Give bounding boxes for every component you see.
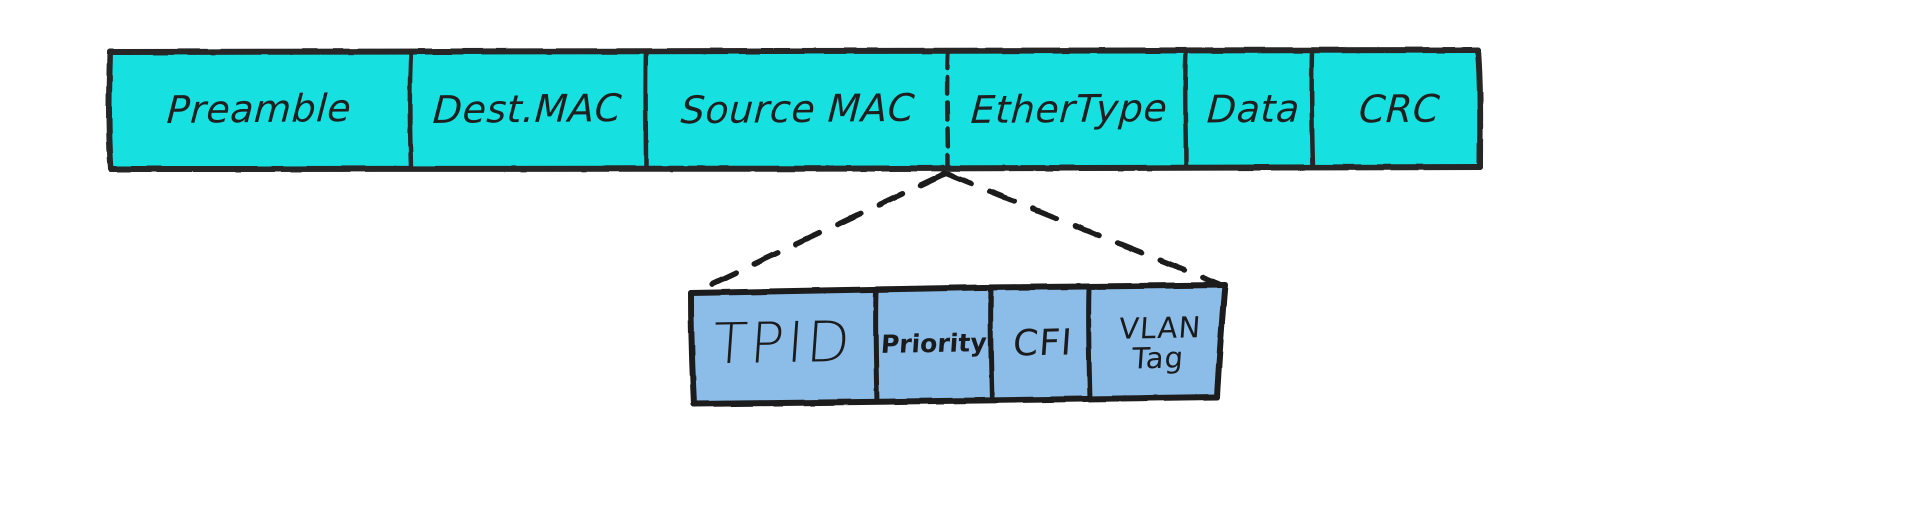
callout-left-line	[693, 174, 944, 293]
diagram-root: Preamble Dest.MAC Source MAC EtherType D…	[0, 0, 1920, 523]
vlan-cell-vlan-tag[interactable]: VLAN Tag	[1093, 283, 1226, 405]
vlan-cell-cfi[interactable]: CFI	[993, 283, 1093, 405]
frame-cell-label: Dest.MAC	[432, 86, 623, 132]
vlan-cell-priority[interactable]: Priority	[875, 283, 993, 405]
frame-cell-label: Preamble	[165, 86, 352, 132]
frame-cell-crc[interactable]: CRC	[1318, 50, 1480, 168]
vlan-cell-label: TPID	[711, 314, 855, 374]
callout-dashed-lines	[693, 174, 1219, 293]
vlan-tag-row: TPID Priority CFI VLAN Tag	[690, 283, 1226, 405]
callout-right-line	[947, 174, 1219, 284]
frame-cell-label: Data	[1205, 87, 1300, 132]
vlan-cell-label: Priority	[880, 330, 987, 357]
ethernet-frame-row: Preamble Dest.MAC Source MAC EtherType D…	[108, 50, 1480, 168]
frame-cell-label: CRC	[1357, 87, 1441, 132]
vlan-cell-label: VLAN Tag	[1116, 314, 1202, 375]
frame-cell-preamble[interactable]: Preamble	[108, 50, 410, 168]
frame-cell-data[interactable]: Data	[1188, 50, 1318, 168]
frame-cell-label: EtherType	[969, 86, 1168, 132]
vlan-cell-label: CFI	[1012, 325, 1074, 363]
vlan-cell-tpid[interactable]: TPID	[690, 283, 875, 405]
frame-cell-source-mac[interactable]: Source MAC	[645, 50, 950, 168]
frame-cell-ethertype[interactable]: EtherType	[950, 50, 1188, 168]
frame-cell-label: Source MAC	[679, 86, 916, 132]
frame-cell-dest-mac[interactable]: Dest.MAC	[410, 50, 645, 168]
